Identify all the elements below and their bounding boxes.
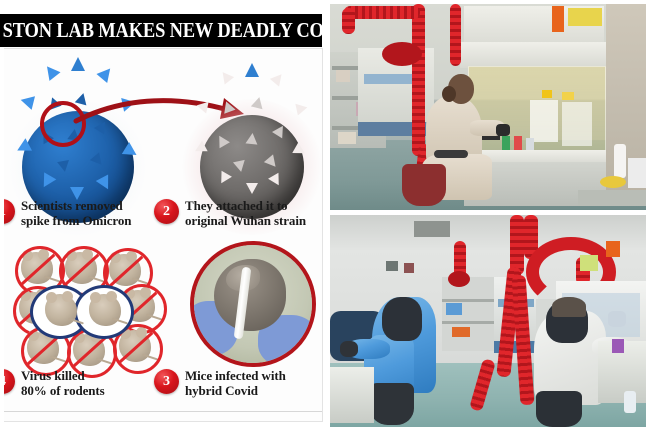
lab-stool — [536, 391, 582, 427]
counter-edge — [578, 190, 646, 206]
alive-mouse-item — [82, 287, 128, 333]
infographic-body: 1 Scientists removed spike from Omicron … — [4, 48, 323, 422]
step-3-text: Mice infected with hybrid Covid — [185, 369, 286, 398]
virus-spike-icon — [41, 62, 60, 81]
virus-spike-icon — [96, 64, 115, 83]
wall-fixture — [404, 263, 414, 273]
mouse-ear-icon — [46, 292, 57, 303]
hose-coil-knot — [448, 271, 470, 287]
supply-box — [452, 327, 470, 337]
paper-sheet — [562, 102, 592, 146]
step-1-caption: 1 Scientists removed spike from Omicron — [4, 199, 154, 228]
step-4-caption: 4 Virus killed 80% of rodents — [4, 369, 154, 398]
sample-rack — [612, 339, 624, 353]
sample-tube — [502, 136, 510, 150]
spray-bottle — [614, 144, 626, 178]
headline-text: STON LAB MAKES NEW DEADLY COVID STRAIN — [0, 14, 283, 47]
step-4-text: Virus killed 80% of rodents — [21, 369, 105, 398]
infographic-panel: STON LAB MAKES NEW DEADLY COVID STRAIN — [0, 0, 326, 425]
air-hose — [412, 4, 425, 156]
spray-bottle — [624, 391, 636, 413]
step-1-badge: 1 — [4, 199, 15, 224]
wall-fixture — [386, 261, 398, 271]
virus-spike-icon — [57, 160, 71, 173]
step-3-caption: 3 Mice infected with hybrid Covid — [154, 369, 322, 398]
supply-box — [338, 132, 356, 144]
suit-visor — [382, 297, 422, 341]
glassware — [608, 311, 626, 327]
step-2-text: They attached it to original Wuhan strai… — [185, 199, 306, 228]
suit-glove — [340, 341, 358, 357]
step-1-text: Scientists removed spike from Omicron — [21, 199, 131, 228]
sticky-note — [580, 255, 598, 271]
sample-tube — [526, 138, 534, 150]
virus-spike-icon — [246, 183, 258, 194]
hazard-label — [552, 6, 564, 32]
air-hose — [342, 8, 355, 34]
mouse-ear-icon — [62, 291, 73, 302]
supply-box — [446, 303, 462, 315]
lab-stool — [402, 164, 446, 206]
researcher-head — [552, 297, 586, 317]
mouse-ear-icon — [90, 292, 101, 303]
virus-spike-icon — [245, 132, 258, 144]
sticky-note — [542, 90, 552, 98]
screenshot-root: STON LAB MAKES NEW DEADLY COVID STRAIN — [0, 0, 650, 431]
hazard-label — [606, 241, 620, 257]
headline-banner: STON LAB MAKES NEW DEADLY COVID STRAIN — [0, 14, 322, 47]
lab-photo-biosafety-cabinet — [330, 4, 646, 210]
paper-sheet — [530, 100, 558, 142]
divider — [4, 411, 322, 412]
air-hose — [450, 4, 461, 66]
alive-mouse-item — [38, 287, 84, 333]
virus-spike-icon — [295, 101, 308, 115]
virus-spike-icon — [71, 57, 85, 71]
attached-blue-spike-icon — [245, 63, 259, 77]
mouse-ear-icon — [106, 291, 117, 302]
virus-spike-icon — [218, 68, 234, 84]
waist-belt — [434, 150, 468, 158]
tape-roll — [600, 176, 626, 188]
air-hose — [344, 6, 420, 19]
researcher-hair — [442, 86, 456, 102]
sharps-container — [628, 158, 646, 188]
cabinet-visor-housing — [460, 42, 610, 68]
mice-grid — [12, 245, 164, 375]
sticky-note — [562, 92, 574, 100]
supply-box — [336, 70, 350, 82]
shelf-rail — [442, 321, 494, 324]
mouse-swab-photo — [190, 241, 316, 367]
shelf-rail — [442, 299, 494, 302]
air-hose — [510, 215, 524, 275]
researcher-glove — [496, 124, 510, 136]
step-3-badge: 3 — [154, 369, 179, 394]
step-4-badge: 4 — [4, 369, 15, 394]
warning-label — [568, 8, 602, 26]
sample-tube — [514, 136, 522, 150]
lab-photo-bsl4-suite — [330, 215, 646, 427]
workbench — [330, 367, 374, 423]
step-2-badge: 2 — [154, 199, 179, 224]
ceiling-fixture — [414, 221, 450, 237]
dead-mouse-item — [58, 245, 104, 291]
hose-coil-knot — [382, 42, 422, 66]
lab-stool — [370, 383, 414, 425]
step-2-caption: 2 They attached it to original Wuhan str… — [154, 199, 322, 228]
virus-spike-icon — [270, 70, 286, 86]
